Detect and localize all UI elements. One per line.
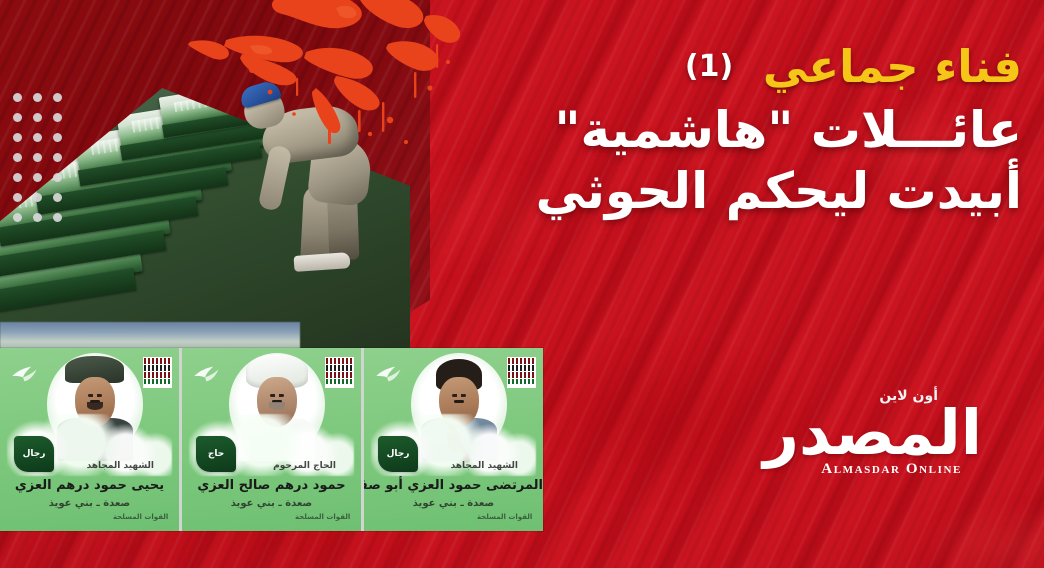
dot — [33, 193, 42, 202]
poster-name: يحيى حمود درهم العزي — [0, 478, 179, 493]
dot — [33, 153, 42, 162]
dot — [13, 173, 22, 182]
dot — [53, 173, 62, 182]
kicker-number: (1) — [685, 49, 733, 84]
poster-footer: القوات المسلحة — [0, 513, 179, 521]
portrait-eyes — [88, 394, 102, 396]
dot — [13, 193, 22, 202]
dove-icon — [193, 363, 220, 385]
poster-place: صعدة ـ بني عويذ — [0, 498, 179, 509]
dot — [33, 173, 42, 182]
dot — [33, 113, 42, 122]
dot — [13, 153, 22, 162]
dot-grid-decoration — [8, 88, 68, 228]
title-line-2: أبيدت ليحكم الحوثي — [362, 161, 1022, 222]
poster-rank: الشهيد المجاهد — [0, 461, 179, 471]
poster-name: المرتضى حمود العزي أبو صقر — [364, 478, 543, 493]
dot — [53, 133, 62, 142]
dot — [13, 133, 22, 142]
kicker-text: فناء جماعي — [763, 40, 1022, 93]
dove-icon — [11, 363, 38, 385]
brand-english-name: Almasdar Online — [821, 461, 962, 478]
dot — [33, 93, 42, 102]
poster-place: صعدة ـ بني عويذ — [182, 498, 361, 509]
dot — [33, 213, 42, 222]
poster-place: صعدة ـ بني عويذ — [364, 498, 543, 509]
portrait-eyes — [452, 394, 466, 396]
martyr-poster: حاج الحاج المرحوم حمود درهم صالح العزي ص… — [182, 348, 361, 531]
dove-icon — [375, 363, 402, 385]
dot — [33, 133, 42, 142]
portrait-beard — [87, 402, 103, 410]
dot — [53, 93, 62, 102]
flag-badge — [507, 357, 536, 388]
portrait-beard — [269, 402, 285, 410]
dot — [13, 93, 22, 102]
headline-block: فناء جماعي (1) عائـــلات "هاشمية" أبيدت … — [362, 44, 1022, 222]
photo-band — [0, 322, 300, 350]
figure-shoe — [294, 252, 351, 272]
dot — [53, 193, 62, 202]
brand-logo: أون لاين المصدر Almasdar Online — [772, 388, 982, 480]
poster-name: حمود درهم صالح العزي — [182, 478, 361, 493]
kicker-line: فناء جماعي (1) — [362, 44, 1022, 90]
dot — [13, 113, 22, 122]
dot — [53, 113, 62, 122]
poster-footer: القوات المسلحة — [182, 513, 361, 521]
title-line-1: عائـــلات "هاشمية" — [362, 100, 1022, 161]
page-title: عائـــلات "هاشمية" أبيدت ليحكم الحوثي — [362, 100, 1022, 222]
portrait-moustache — [454, 400, 464, 403]
poster-rank: الشهيد المجاهد — [364, 461, 543, 471]
flag-badge — [325, 357, 354, 388]
martyr-poster: رجال الشهيد المجاهد المرتضى حمود العزي أ… — [364, 348, 543, 531]
portrait-eyes — [270, 394, 284, 396]
poster-rank: الحاج المرحوم — [182, 461, 361, 471]
martyr-poster-strip: رجال الشهيد المجاهد يحيى حمود درهم العزي… — [0, 348, 543, 531]
dot — [13, 213, 22, 222]
graphic-card: فناء جماعي (1) عائـــلات "هاشمية" أبيدت … — [0, 0, 1044, 568]
poster-footer: القوات المسلحة — [364, 513, 543, 521]
martyr-poster: رجال الشهيد المجاهد يحيى حمود درهم العزي… — [0, 348, 179, 531]
flag-badge — [143, 357, 172, 388]
dot — [53, 153, 62, 162]
brand-arabic-mark: المصدر — [763, 402, 982, 464]
dot — [53, 213, 62, 222]
